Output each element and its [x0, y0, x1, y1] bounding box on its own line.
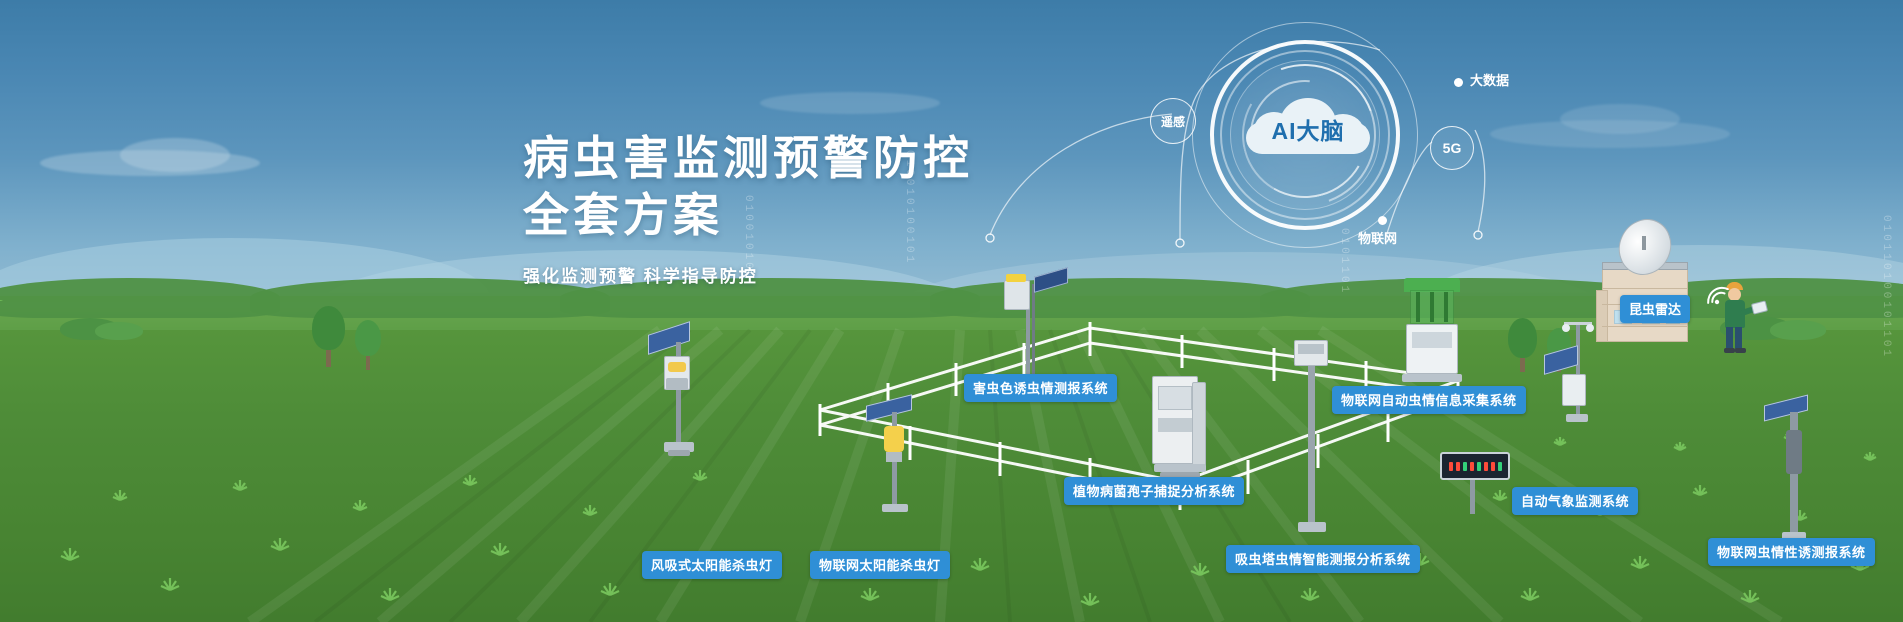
node-big-data-label: 大数据	[1470, 70, 1509, 89]
device-suction-tower[interactable]	[1288, 340, 1338, 540]
label-spore-capture[interactable]: 植物病菌孢子捕捉分析系统	[1064, 477, 1244, 505]
cloud-shape	[760, 92, 940, 114]
tree-foliage	[312, 306, 345, 350]
hero-title-block: 病虫害监测预警防控 全套方案 强化监测预警 科学指导防控	[523, 130, 973, 287]
ai-brain-label: AI大脑	[1246, 112, 1370, 146]
device-spore-capture[interactable]	[1152, 376, 1212, 486]
cloud-shape	[120, 138, 230, 172]
node-5g[interactable]: 5G	[1430, 126, 1474, 170]
label-iot-pheromone-trap[interactable]: 物联网虫情性诱测报系统	[1708, 538, 1875, 566]
label-wind-suction-lamp[interactable]: 风吸式太阳能杀虫灯	[642, 551, 782, 579]
node-iot-dot	[1378, 216, 1387, 225]
node-big-data-dot	[1454, 78, 1463, 87]
page-subtitle: 强化监测预警 科学指导防控	[523, 262, 973, 287]
led-display-board[interactable]	[1440, 452, 1510, 480]
bush	[1770, 320, 1826, 340]
label-suction-tower[interactable]: 吸虫塔虫情智能测报分析系统	[1226, 545, 1420, 573]
page-title-line-2: 全套方案	[523, 187, 973, 244]
led-board-pole	[1470, 478, 1475, 514]
device-wind-suction-lamp[interactable]	[640, 328, 720, 458]
device-iot-solar-lamp[interactable]	[862, 400, 932, 520]
device-iot-pest-collector[interactable]	[1392, 278, 1482, 388]
infographic-banner: 病虫害监测预警防控 全套方案 强化监测预警 科学指导防控 01001010010…	[0, 0, 1903, 622]
page-title-line-1: 病虫害监测预警防控	[523, 130, 973, 187]
wifi-signal-icon	[1700, 274, 1740, 308]
bush	[95, 322, 143, 340]
label-insect-radar[interactable]: 昆虫雷达	[1620, 295, 1690, 323]
tree-foliage	[355, 320, 381, 356]
device-insect-radar[interactable]	[1594, 232, 1714, 352]
label-auto-weather-station[interactable]: 自动气象监测系统	[1512, 487, 1638, 515]
node-remote-sensing[interactable]: 遥感	[1150, 98, 1196, 144]
device-iot-pheromone-trap[interactable]	[1758, 400, 1838, 540]
label-iot-solar-lamp[interactable]: 物联网太阳能杀虫灯	[810, 551, 950, 579]
ai-hub: AI大脑 遥感 5G 大数据 物联网	[1150, 20, 1570, 280]
node-iot-label: 物联网	[1358, 228, 1397, 247]
binary-decoration: 010110100101101	[1880, 215, 1892, 359]
label-pest-color-lure[interactable]: 害虫色诱虫情测报系统	[964, 374, 1117, 402]
label-iot-pest-collector[interactable]: 物联网自动虫情信息采集系统	[1332, 386, 1526, 414]
